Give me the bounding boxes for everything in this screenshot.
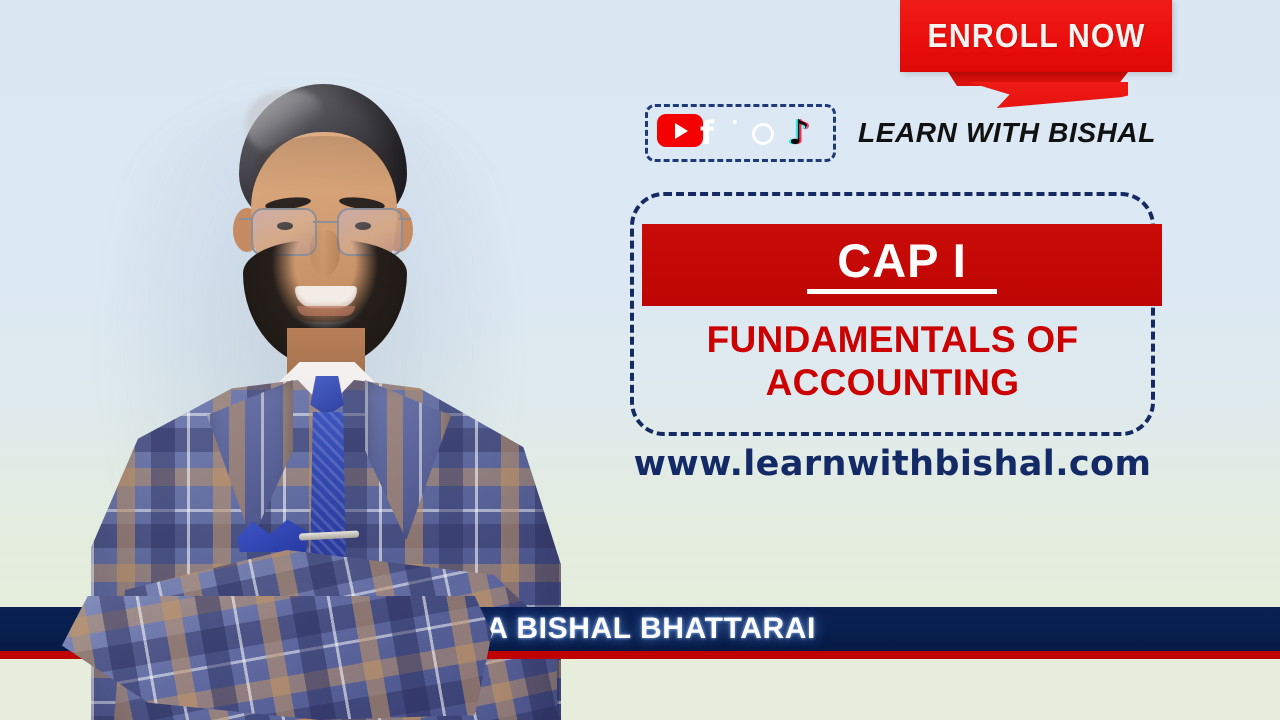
instagram-lens-ring — [752, 123, 774, 145]
banner-body[interactable]: ENROLL NOW — [900, 0, 1172, 72]
website-url[interactable]: www.learnwithbishal.com — [630, 444, 1155, 484]
presenter-name: CA BISHAL BHATTARAI — [464, 612, 816, 646]
tiktok-icon[interactable]: ♪ ♪ ♪ — [786, 114, 824, 152]
eyeglass-bridge — [313, 221, 337, 223]
brand-name: LEARN WITH BISHAL — [858, 117, 1156, 149]
social-brand-row: f ♪ ♪ ♪ LEARN WITH BISHAL — [645, 104, 1156, 162]
play-triangle-icon — [675, 123, 688, 139]
course-card: CAP I FUNDAMENTALS OF ACCOUNTING — [630, 192, 1155, 436]
enroll-now-label: ENROLL NOW — [927, 17, 1145, 55]
youtube-badge — [657, 114, 703, 147]
course-code-band: CAP I — [642, 224, 1162, 306]
course-title: FUNDAMENTALS OF ACCOUNTING — [634, 318, 1151, 404]
presenter-forehead-shading — [255, 136, 393, 192]
presenter-smile — [295, 286, 357, 308]
tiktok-note-black: ♪ — [788, 114, 810, 152]
facebook-icon[interactable]: f — [700, 114, 738, 152]
instagram-icon[interactable] — [743, 114, 781, 152]
youtube-icon[interactable] — [657, 114, 695, 152]
course-code: CAP I — [837, 236, 967, 286]
eyeglass-temple-right — [399, 218, 411, 220]
enroll-now-banner[interactable]: ENROLL NOW — [900, 0, 1172, 72]
course-code-underline — [807, 289, 997, 294]
presenter-lower-lip — [297, 306, 355, 316]
instagram-flash-dot — [733, 120, 737, 124]
social-icons-box: f ♪ ♪ ♪ — [645, 104, 836, 162]
promo-poster: ENROLL NOW f ♪ — [0, 0, 1280, 720]
eyeglass-temple-left — [239, 218, 251, 220]
